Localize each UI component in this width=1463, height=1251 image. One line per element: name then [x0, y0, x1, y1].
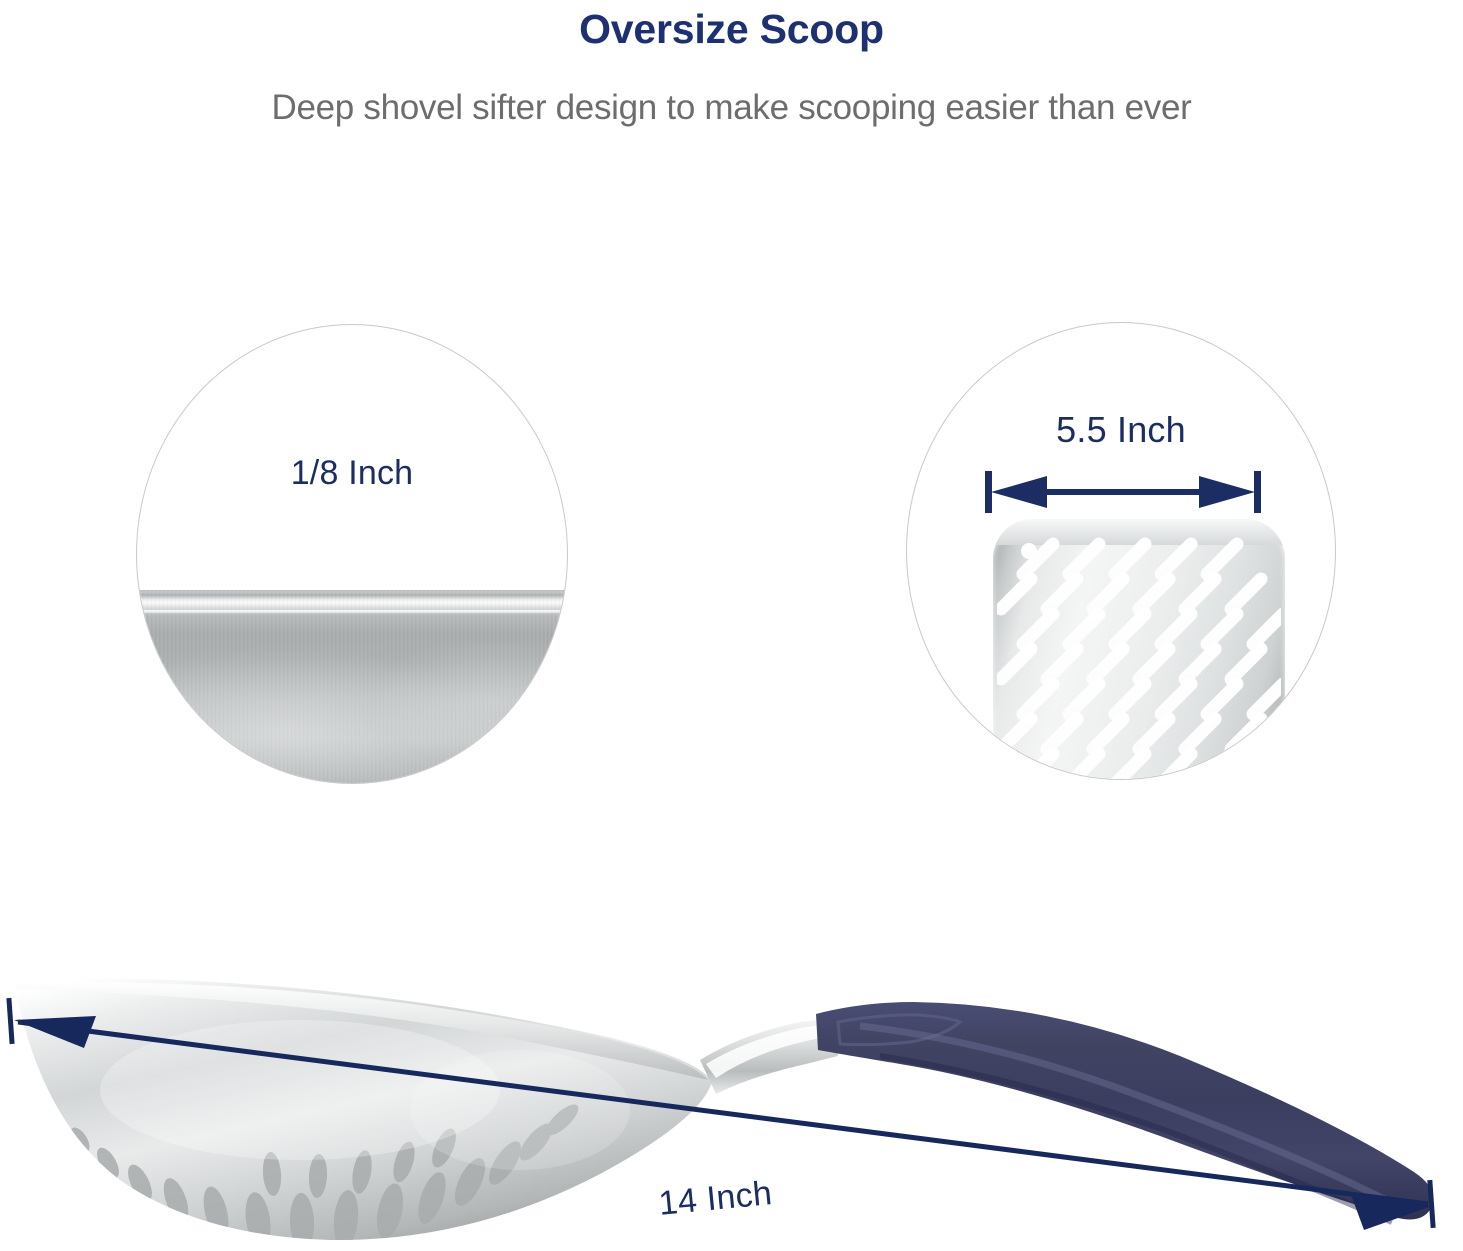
steel-edge-highlight [136, 610, 568, 613]
slotted-scoop-head [993, 519, 1285, 780]
product-infographic: Oversize Scoop Deep shovel sifter design… [0, 0, 1463, 1251]
sifter-slots-pattern-icon [993, 519, 1285, 780]
steel-edge-cross-section [136, 590, 568, 784]
width-label: 5.5 Inch [907, 409, 1335, 451]
page-title: Oversize Scoop [0, 6, 1463, 53]
scoop-handle [816, 1002, 1433, 1222]
page-subtitle: Deep shovel sifter design to make scoopi… [0, 88, 1463, 128]
scoop-bowl [14, 978, 712, 1251]
dimension-arrow-icon [985, 469, 1261, 515]
thickness-label: 1/8 Inch [137, 454, 567, 493]
callout-circle-width: 5.5 Inch [906, 322, 1336, 780]
callout-circle-thickness: 1/8 Inch [136, 324, 568, 784]
